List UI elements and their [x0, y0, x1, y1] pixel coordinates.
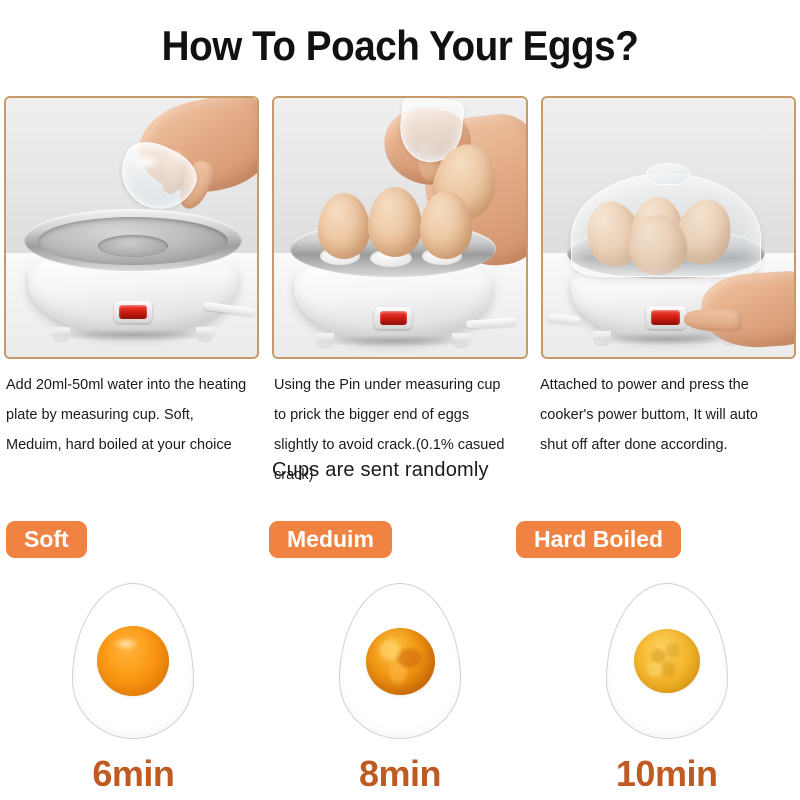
doneness-results-row: 6min 8min 10min — [0, 583, 800, 795]
step-image-prick-egg — [272, 96, 527, 359]
time-label-hard-boiled: 10min — [616, 753, 718, 795]
step-image-press-power — [541, 96, 796, 359]
cooker-foot-left — [52, 327, 70, 342]
cooker-foot-left — [316, 333, 334, 348]
cooker-foot-right — [196, 327, 214, 342]
egg-cross-section-medium — [339, 583, 461, 739]
power-switch[interactable] — [374, 307, 412, 329]
egg-cross-section-soft — [72, 583, 194, 739]
yolk-hard-boiled — [634, 629, 700, 693]
doneness-result-soft: 6min — [0, 583, 267, 795]
power-switch[interactable] — [114, 301, 152, 323]
cups-randomly-note: Cups are sent randomly — [272, 459, 489, 482]
photo-press-power — [543, 98, 794, 357]
photo-add-water — [6, 98, 257, 357]
badge-medium: Meduim — [269, 521, 392, 558]
dome-lid-knob — [646, 163, 690, 185]
yolk-soft — [97, 626, 169, 696]
step-caption-press-power: Attached to power and press the cooker's… — [534, 370, 800, 490]
step-caption-add-water: Add 20ml-50ml water into the heating pla… — [0, 370, 266, 490]
badge-soft: Soft — [6, 521, 87, 558]
doneness-result-medium: 8min — [267, 583, 534, 795]
heating-plate-center — [98, 235, 168, 257]
yolk-medium — [366, 628, 435, 695]
step-images-row — [4, 96, 796, 359]
photo-prick-egg — [274, 98, 525, 357]
page-title: How To Poach Your Eggs? — [32, 0, 768, 70]
cooker-foot-left — [593, 331, 611, 346]
power-switch-red[interactable] — [380, 311, 407, 325]
doneness-result-hard-boiled: 10min — [533, 583, 800, 795]
power-switch-red[interactable] — [651, 310, 680, 324]
doneness-badges-row: Soft Meduim Hard Boiled — [0, 521, 800, 561]
badge-hard-boiled: Hard Boiled — [516, 521, 681, 558]
time-label-medium: 8min — [359, 753, 441, 795]
step-image-add-water — [4, 96, 259, 359]
power-switch[interactable] — [646, 306, 686, 329]
egg-cross-section-hard-boiled — [606, 583, 728, 739]
time-label-soft: 6min — [92, 753, 174, 795]
cooker-foot-right — [452, 333, 470, 348]
power-switch-red[interactable] — [119, 305, 146, 319]
